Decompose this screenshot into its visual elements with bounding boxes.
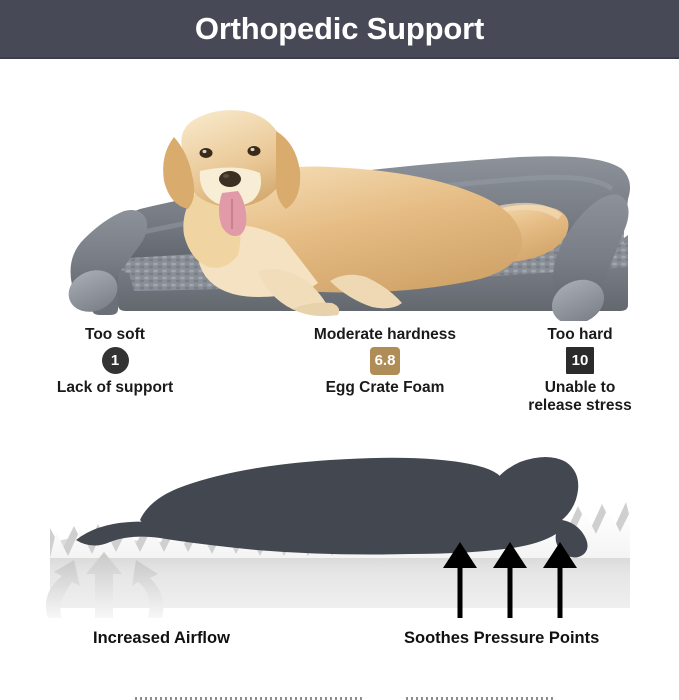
scale-bottom-label-left: Lack of support xyxy=(10,379,220,398)
pressure-label: Soothes Pressure Points xyxy=(404,630,599,647)
scale-bottom-label-right-line1: Unable to xyxy=(490,379,670,398)
scale-bottom-label-right-line2: release stress xyxy=(490,397,670,416)
foam-cross-section-diagram xyxy=(0,428,679,618)
scale-point-too-hard: Too hard 10 Unable to release stress xyxy=(490,326,670,416)
scale-point-moderate: Moderate hardness 6.8 Egg Crate Foam xyxy=(275,326,495,397)
page-title: Orthopedic Support xyxy=(195,13,484,44)
dog-bed-illustration xyxy=(0,59,679,321)
scale-badge-1: 1 xyxy=(102,347,129,374)
scale-bottom-label-middle: Egg Crate Foam xyxy=(275,379,495,398)
scale-top-label-middle: Moderate hardness xyxy=(275,326,495,344)
header-banner: Orthopedic Support xyxy=(0,0,679,59)
scale-top-label-right: Too hard xyxy=(490,326,670,344)
scale-top-label-left: Too soft xyxy=(10,326,220,344)
hardness-scale: Too soft 1 Lack of support Moderate hard… xyxy=(0,326,679,428)
foam-diagram-graphic xyxy=(0,428,679,618)
product-photo xyxy=(0,59,679,321)
scale-badge-middle-row: 6.8 xyxy=(275,346,495,376)
scale-badge-right-row: 10 xyxy=(490,346,670,376)
scale-badge-10: 10 xyxy=(566,347,594,374)
scale-point-too-soft: Too soft 1 Lack of support xyxy=(10,326,220,397)
scale-badge-68: 6.8 xyxy=(370,347,400,375)
scale-badge-left-row: 1 xyxy=(10,346,220,376)
airflow-label: Increased Airflow xyxy=(93,630,230,647)
